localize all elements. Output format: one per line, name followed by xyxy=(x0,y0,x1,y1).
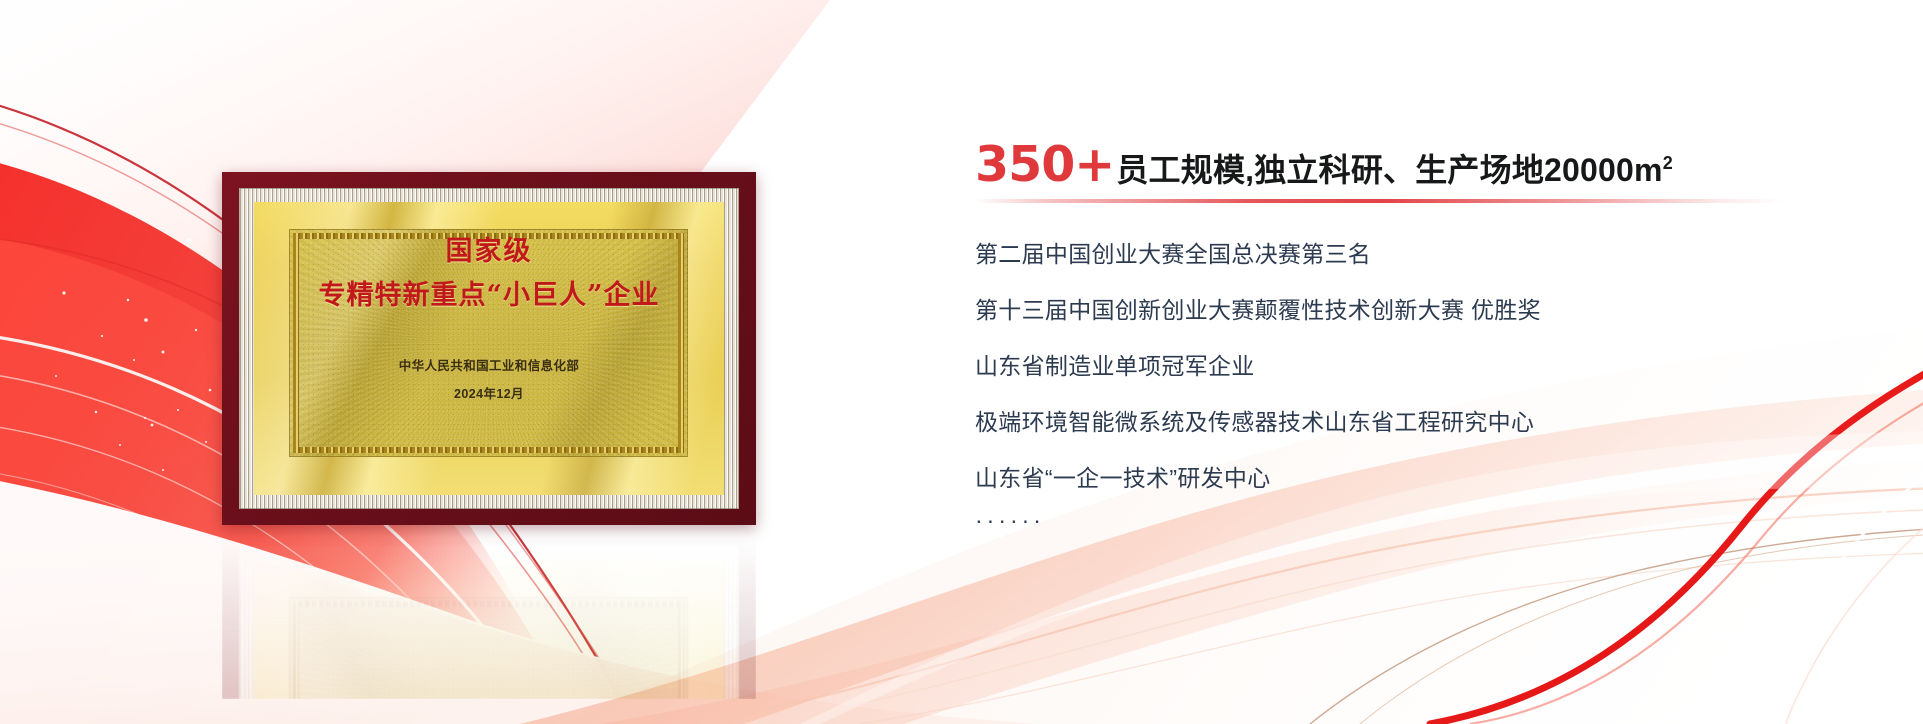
headline: 350+ 员工规模,独立科研、生产场地20000m 2 xyxy=(975,140,1875,189)
headline-text: 员工规模,独立科研、生产场地20000m xyxy=(1116,154,1662,186)
award-item: 山东省“一企一技术”研发中心 xyxy=(975,467,1875,490)
plaque-date: 2024年12月 xyxy=(454,388,524,401)
award-item: 极端环境智能微系统及传感器技术山东省工程研究中心 xyxy=(975,411,1875,434)
headline-underline xyxy=(975,199,1785,203)
plaque-issuer: 中华人民共和国工业和信息化部 xyxy=(399,360,580,373)
promo-banner: 国家级 专精特新重点“小巨人”企业 中华人民共和国工业和信息化部 2024年12… xyxy=(0,0,1923,724)
plaque-title-line2: 专精特新重点“小巨人”企业 xyxy=(318,282,659,309)
content-column: 350+ 员工规模,独立科研、生产场地20000m 2 第二届中国创业大赛全国总… xyxy=(975,140,1875,532)
headline-unit-superscript: 2 xyxy=(1663,154,1673,172)
award-item: 第二届中国创业大赛全国总决赛第三名 xyxy=(975,243,1875,266)
award-item: 山东省制造业单项冠军企业 xyxy=(975,355,1875,378)
plaque-silver-band: 国家级 专精特新重点“小巨人”企业 中华人民共和国工业和信息化部 2024年12… xyxy=(239,188,739,509)
plaque-content: 国家级 专精特新重点“小巨人”企业 中华人民共和国工业和信息化部 2024年12… xyxy=(254,202,724,495)
plaque-title-line1: 国家级 xyxy=(446,238,533,265)
headline-number: 350+ xyxy=(975,140,1114,189)
award-item: 第十三届中国创新创业大赛颠覆性技术创新大赛 优胜奖 xyxy=(975,299,1875,322)
plaque-gold-plate: 国家级 专精特新重点“小巨人”企业 中华人民共和国工业和信息化部 2024年12… xyxy=(254,202,724,495)
award-list: 第二届中国创业大赛全国总决赛第三名 第十三届中国创新创业大赛颠覆性技术创新大赛 … xyxy=(975,243,1875,490)
award-plaque: 国家级 专精特新重点“小巨人”企业 中华人民共和国工业和信息化部 2024年12… xyxy=(222,172,756,525)
plaque-outer-frame: 国家级 专精特新重点“小巨人”企业 中华人民共和国工业和信息化部 2024年12… xyxy=(222,172,756,525)
award-list-ellipsis: ······ xyxy=(975,509,1875,532)
